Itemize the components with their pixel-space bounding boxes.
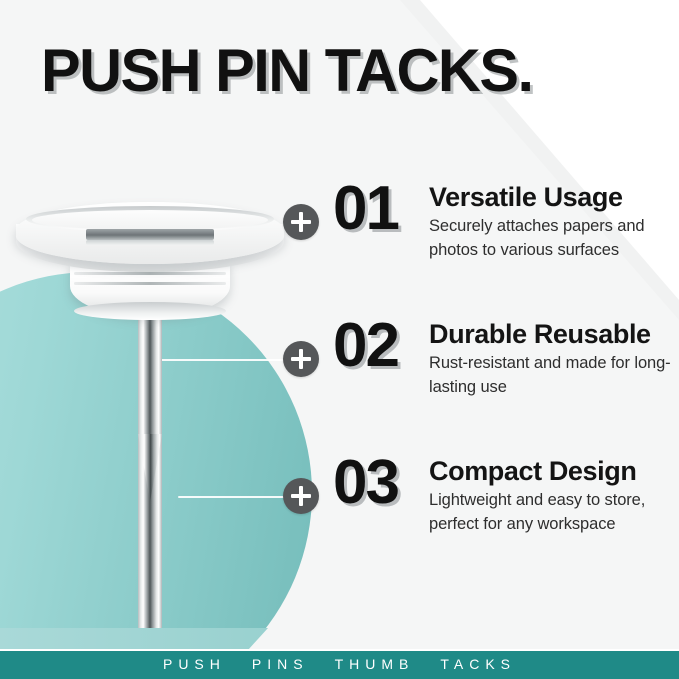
feature-text-block: Durable Reusable Rust-resistant and made… bbox=[429, 319, 677, 400]
footer-keywords: PUSH PINS THUMB TACKS bbox=[0, 649, 679, 679]
feature-description: Lightweight and easy to store, perfect f… bbox=[429, 489, 677, 537]
plus-icon-vertical bbox=[299, 349, 303, 369]
feature-text-block: Compact Design Lightweight and easy to s… bbox=[429, 456, 677, 537]
plus-circle-icon bbox=[283, 478, 319, 514]
infographic-canvas: PUSH PIN TACKS. 01 Versatile Usage Secur… bbox=[0, 0, 679, 679]
feature-description: Securely attaches papers and photos to v… bbox=[429, 215, 677, 263]
feature-title: Versatile Usage bbox=[429, 182, 677, 212]
plus-icon-vertical bbox=[299, 486, 303, 506]
feature-title: Compact Design bbox=[429, 456, 677, 486]
pin-collar-groove-2 bbox=[74, 282, 226, 285]
feature-text-block: Versatile Usage Securely attaches papers… bbox=[429, 182, 677, 263]
pin-crossbar-shadow bbox=[86, 240, 214, 245]
pin-head-rim-inner bbox=[32, 210, 268, 230]
pin-crossbar bbox=[86, 229, 214, 240]
footer-word: PINS bbox=[252, 656, 309, 672]
feature-number: 01 bbox=[333, 178, 398, 240]
footer-word: THUMB bbox=[335, 656, 415, 672]
feature-item-2: 02 Durable Reusable Rust-resistant and m… bbox=[283, 327, 679, 447]
footer-word: PUSH bbox=[163, 656, 226, 672]
push-pin-illustration bbox=[8, 196, 298, 516]
pin-collar-groove-1 bbox=[74, 272, 226, 275]
plus-icon-vertical bbox=[299, 212, 303, 232]
plus-circle-icon bbox=[283, 204, 319, 240]
page-title: PUSH PIN TACKS. bbox=[41, 36, 532, 105]
pin-collar-base bbox=[74, 302, 226, 320]
feature-title: Durable Reusable bbox=[429, 319, 677, 349]
feature-number: 03 bbox=[333, 452, 398, 514]
feature-number: 02 bbox=[333, 315, 398, 377]
feature-description: Rust-resistant and made for long-lasting… bbox=[429, 352, 677, 400]
feature-item-3: 03 Compact Design Lightweight and easy t… bbox=[283, 464, 679, 584]
feature-item-1: 01 Versatile Usage Securely attaches pap… bbox=[283, 190, 679, 310]
footer-word: TACKS bbox=[440, 656, 516, 672]
plus-circle-icon bbox=[283, 341, 319, 377]
